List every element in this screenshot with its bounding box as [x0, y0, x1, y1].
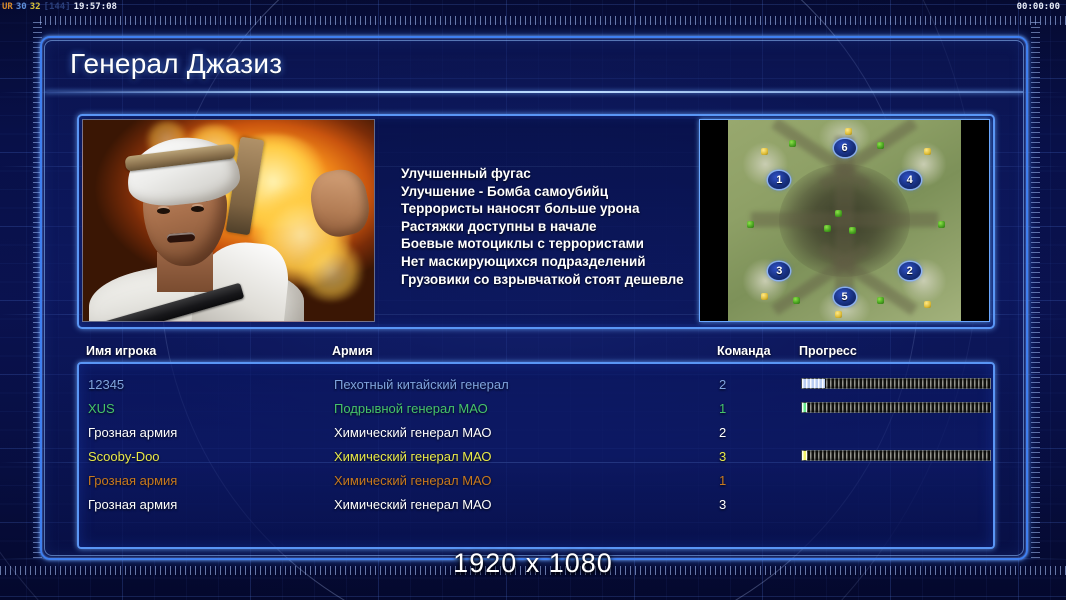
portrait-mouth [167, 232, 196, 243]
game-lobby-screen: UR3032[144]19:57:08 00:00:00 Генерал Джа… [0, 0, 1066, 600]
player-progress [801, 402, 991, 413]
table-row[interactable]: XUSПодрывной генерал МАО1 [79, 396, 993, 420]
description-line: Террористы наносят больше урона [401, 200, 699, 218]
map-start-position[interactable]: 1 [768, 171, 790, 189]
player-army: Подрывной генерал МАО [334, 401, 488, 416]
player-name: Грозная армия [88, 473, 177, 488]
progress-bar [801, 402, 991, 413]
progress-bar [801, 378, 991, 389]
player-army: Пехотный китайский генерал [334, 377, 509, 392]
progress-bar-fill [802, 451, 807, 460]
player-name: Scooby-Doo [88, 449, 160, 464]
ruler-bottom [0, 566, 1066, 575]
match-timer: 00:00:00 [1017, 2, 1060, 12]
map-letterbox-right [961, 120, 989, 321]
column-header-team: Команда [717, 344, 771, 358]
column-header-name: Имя игрока [86, 344, 156, 358]
description-line: Растяжки доступны в начале [401, 218, 699, 236]
progress-bar [801, 450, 991, 461]
player-army: Химический генерал МАО [334, 497, 492, 512]
ruler-top [40, 16, 1066, 25]
status-bar: UR3032[144]19:57:08 00:00:00 [0, 0, 1066, 16]
description-line: Грузовики со взрывчаткой стоят дешевле [401, 271, 699, 289]
player-team: 2 [719, 377, 726, 392]
ruler-right [1031, 22, 1040, 560]
status-bar-left: UR3032[144]19:57:08 [2, 2, 120, 12]
player-army: Химический генерал МАО [334, 425, 492, 440]
map-terrain: 1 4 6 3 2 5 [728, 120, 961, 321]
general-description: Улучшенный фугас Улучшение - Бомба самоу… [375, 119, 699, 324]
player-table: 12345Пехотный китайский генерал2XUSПодры… [77, 362, 995, 549]
status-value-b: 32 [30, 2, 41, 12]
player-name: Грозная армия [88, 497, 177, 512]
status-tag: UR [2, 2, 13, 12]
general-info-panel: Улучшенный фугас Улучшение - Бомба самоу… [77, 114, 995, 329]
player-team: 3 [719, 449, 726, 464]
column-header-progress: Прогресс [799, 344, 857, 358]
map-start-position[interactable]: 5 [834, 288, 856, 306]
map-start-position[interactable]: 6 [834, 139, 856, 157]
map-preview[interactable]: 1 4 6 3 2 5 [699, 119, 990, 322]
player-table-header: Имя игрока Армия Команда Прогресс [82, 344, 992, 362]
player-team: 1 [719, 401, 726, 416]
status-clock: 19:57:08 [74, 2, 117, 12]
portrait-eye-right [191, 206, 204, 212]
description-line: Боевые мотоциклы с террористами [401, 235, 699, 253]
map-start-position[interactable]: 3 [768, 262, 790, 280]
table-row[interactable]: Грозная армияХимический генерал МАО2 [79, 420, 993, 444]
general-portrait [82, 119, 375, 322]
title-divider [45, 91, 1023, 93]
player-name: 12345 [88, 377, 124, 392]
status-value-a: 30 [16, 2, 27, 12]
table-row[interactable]: Грозная армияХимический генерал МАО3 [79, 492, 993, 516]
description-line: Улучшение - Бомба самоубийц [401, 183, 699, 201]
description-line: Улучшенный фугас [401, 165, 699, 183]
table-row[interactable]: Scooby-DooХимический генерал МАО3 [79, 444, 993, 468]
map-start-position[interactable]: 2 [899, 262, 921, 280]
table-row[interactable]: 12345Пехотный китайский генерал2 [79, 372, 993, 396]
map-start-position[interactable]: 4 [899, 171, 921, 189]
player-team: 3 [719, 497, 726, 512]
status-bracket: [144] [44, 2, 71, 12]
progress-bar-fill [802, 403, 807, 412]
player-progress [801, 450, 991, 461]
progress-bar-fill [802, 379, 825, 388]
player-progress [801, 378, 991, 389]
player-name: Грозная армия [88, 425, 177, 440]
description-line: Нет маскирующихся подразделений [401, 253, 699, 271]
main-frame: Генерал Джазиз [40, 36, 1028, 560]
player-team: 1 [719, 473, 726, 488]
player-army: Химический генерал МАО [334, 449, 492, 464]
player-team: 2 [719, 425, 726, 440]
page-title: Генерал Джазиз [70, 48, 282, 80]
map-letterbox-left [700, 120, 728, 321]
column-header-army: Армия [332, 344, 373, 358]
player-army: Химический генерал МАО [334, 473, 492, 488]
table-row[interactable]: Грозная армияХимический генерал МАО1 [79, 468, 993, 492]
player-name: XUS [88, 401, 115, 416]
portrait-eye-left [157, 208, 170, 214]
